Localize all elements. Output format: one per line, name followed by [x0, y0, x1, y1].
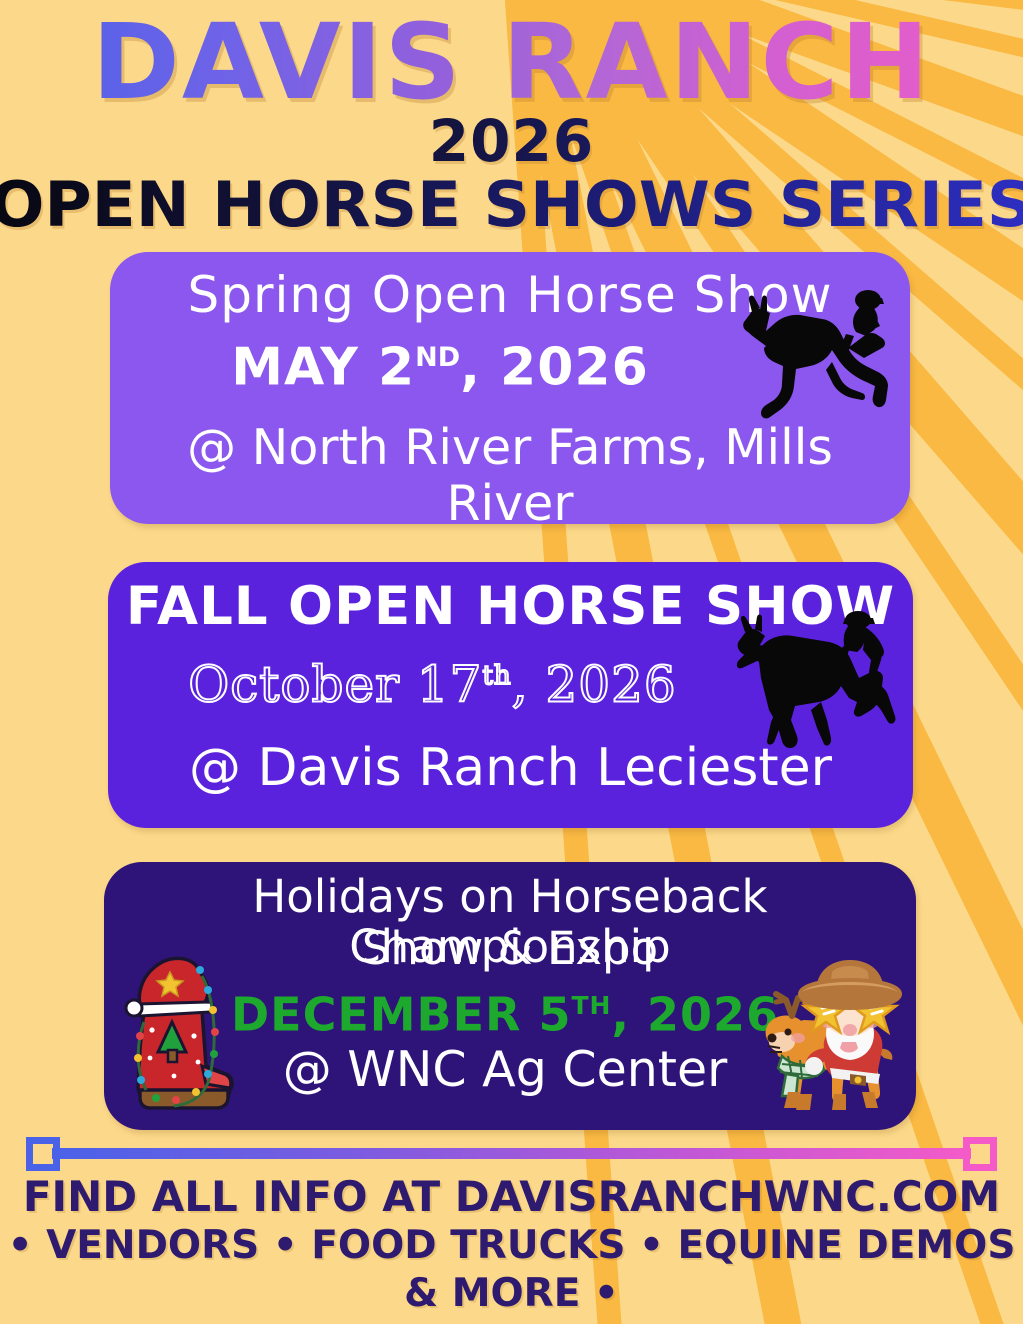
footer-features-line: • VENDORS • FOOD TRUCKS • EQUINE DEMOS &… [0, 1222, 1023, 1318]
header-year: 2026 [0, 112, 1023, 170]
poster-header: DAVIS RANCH 2026 OPEN HORSE SHOWS SERIES [0, 0, 1023, 238]
event-date-ordinal: ND [415, 342, 460, 373]
event-date-ordinal: TH [571, 991, 611, 1020]
event-date: MAY 2ND, 2026 [120, 330, 760, 395]
event-card-holidays[interactable]: Holidays on Horseback Championship Show … [104, 862, 916, 1130]
event-date-main: DECEMBER 5 [231, 987, 572, 1041]
poster-footer: FIND ALL INFO AT DAVISRANCHWNC.COM • VEN… [0, 1132, 1023, 1324]
divider-cap-left [26, 1137, 60, 1171]
jumping-horse-rider-silhouette-icon [736, 274, 896, 454]
page-title: DAVIS RANCH [0, 0, 1023, 118]
header-series-title: OPEN HORSE SHOWS SERIES [0, 172, 1023, 238]
event-card-fall[interactable]: FALL OPEN HORSE SHOW October 17th, 2026 … [108, 562, 913, 828]
event-location: @ WNC Ag Center [224, 1042, 786, 1098]
event-date-main: MAY 2 [231, 337, 415, 397]
footer-awards-line: END OF YEAR AWARDS PRESENTED @ DEC 5TH S… [0, 1318, 1023, 1324]
event-date-year: , 2026 [460, 337, 649, 397]
galloping-horse-cowgirl-silhouette-icon [725, 610, 905, 770]
event-date-year: , 2026 [512, 656, 677, 714]
event-card-spring[interactable]: Spring Open Horse Show MAY 2ND, 2026 @ N… [110, 252, 910, 524]
event-date: October 17th, 2026 [112, 648, 753, 713]
poster-root: DAVIS RANCH 2026 OPEN HORSE SHOWS SERIES… [0, 0, 1023, 1324]
christmas-cowboy-boot-icon [114, 948, 234, 1118]
divider-top [0, 1132, 1023, 1176]
divider-bar [52, 1148, 971, 1159]
event-date-year: , 2026 [611, 987, 779, 1041]
divider-cap-right [963, 1137, 997, 1171]
event-date-ordinal: th [482, 661, 511, 691]
footer-website-line[interactable]: FIND ALL INFO AT DAVISRANCHWNC.COM [0, 1172, 1023, 1222]
event-date-main: October 17 [188, 656, 482, 714]
cowboy-santa-on-reindeer-icon [758, 944, 908, 1119]
event-date: DECEMBER 5TH, 2026 [224, 980, 786, 1040]
